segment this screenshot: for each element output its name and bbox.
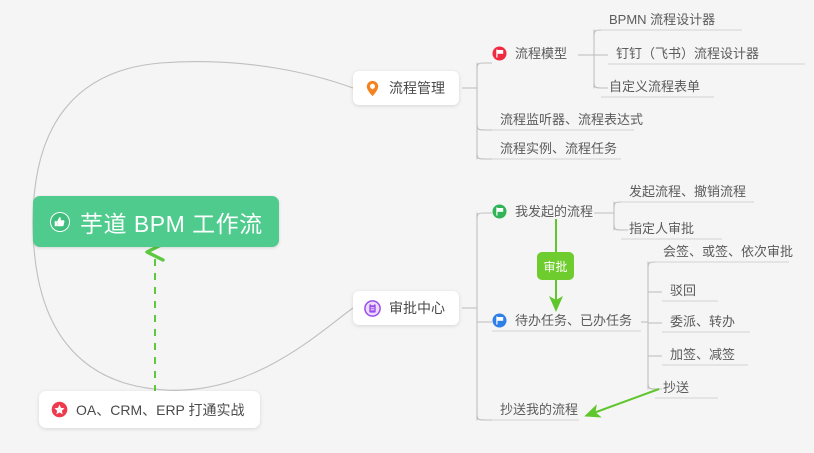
note-node-integration[interactable]: OA、CRM、ERP 打通实战 xyxy=(39,391,260,428)
topic-label-start-cancel-process: 发起流程、撤销流程 xyxy=(629,184,746,199)
thumbs-up-icon xyxy=(49,211,71,233)
topic-label-todo-done-tasks: 待办任务、已办任务 xyxy=(515,312,632,329)
star-icon xyxy=(51,401,68,418)
topic-label-designated-approver: 指定人审批 xyxy=(629,221,694,236)
topic-label-custom-process-form: 自定义流程表单 xyxy=(609,79,700,94)
topic-label-countersign-orsign-sequential: 会签、或签、依次审批 xyxy=(663,244,793,259)
note-label: OA、CRM、ERP 打通实战 xyxy=(76,400,245,420)
root-node[interactable]: 芋道 BPM 工作流 xyxy=(33,196,279,247)
branch-node-approval-center[interactable]: 审批中心 xyxy=(353,291,459,325)
edge-root-to-approval-center xyxy=(33,222,353,390)
arrow-cc-to-cc-to-me xyxy=(588,389,659,415)
topic-label-bpmn-designer: BPMN 流程设计器 xyxy=(609,12,715,27)
branch-label-process-management: 流程管理 xyxy=(389,78,445,98)
topic-dingtalk-feishu-designer[interactable]: 钉钉（飞书）流程设计器 xyxy=(608,45,767,66)
branch-label-approval-center: 审批中心 xyxy=(389,298,445,318)
topic-label-process-model: 流程模型 xyxy=(515,45,567,62)
topic-cc[interactable]: 抄送 xyxy=(655,379,697,400)
topic-custom-process-form[interactable]: 自定义流程表单 xyxy=(601,78,708,99)
edge-to-process-model xyxy=(477,63,492,69)
flag-blue-icon xyxy=(492,313,507,328)
clipboard-purple-icon xyxy=(364,300,381,317)
edge-to-my-initiated-process xyxy=(477,213,492,219)
topic-label-reject: 驳回 xyxy=(670,283,696,298)
flag-red-icon xyxy=(492,46,507,61)
topic-label-my-initiated-process: 我发起的流程 xyxy=(515,203,593,220)
approval-badge: 审批 xyxy=(537,252,574,280)
topic-label-process-instance-task: 流程实例、流程任务 xyxy=(500,141,617,156)
location-pin-icon xyxy=(364,80,381,97)
mindmap-canvas: 芋道 BPM 工作流 流程管理 审批中心 xyxy=(0,0,814,453)
topic-label-cc: 抄送 xyxy=(663,380,689,395)
edge-to-process-instance xyxy=(477,153,492,159)
topic-process-instance-task[interactable]: 流程实例、流程任务 xyxy=(492,140,625,161)
branch-node-process-management[interactable]: 流程管理 xyxy=(353,71,459,105)
topic-bpmn-designer[interactable]: BPMN 流程设计器 xyxy=(601,11,723,32)
topic-label-delegate-transfer: 委派、转办 xyxy=(670,314,735,329)
topic-process-listener-expression[interactable]: 流程监听器、流程表达式 xyxy=(492,111,651,132)
topic-label-process-listener-expression: 流程监听器、流程表达式 xyxy=(500,112,643,127)
topic-cc-to-me-process[interactable]: 抄送我的流程 xyxy=(492,401,586,422)
topic-label-dingtalk-feishu-designer: 钉钉（飞书）流程设计器 xyxy=(616,46,759,61)
topic-countersign-orsign-sequential[interactable]: 会签、或签、依次审批 xyxy=(655,243,801,264)
topic-reject[interactable]: 驳回 xyxy=(662,282,704,303)
approval-badge-label: 审批 xyxy=(543,258,567,275)
topic-process-model[interactable]: 流程模型 xyxy=(492,45,575,66)
edge-to-process-listener xyxy=(477,124,492,130)
topic-add-remove-sign[interactable]: 加签、减签 xyxy=(662,346,743,367)
topic-start-cancel-process[interactable]: 发起流程、撤销流程 xyxy=(621,183,754,204)
topic-my-initiated-process[interactable]: 我发起的流程 xyxy=(492,203,601,224)
topic-designated-approver[interactable]: 指定人审批 xyxy=(621,220,702,241)
flag-green-icon xyxy=(492,204,507,219)
topic-todo-done-tasks[interactable]: 待办任务、已办任务 xyxy=(492,312,640,333)
topic-label-cc-to-me-process: 抄送我的流程 xyxy=(500,402,578,417)
topic-label-add-remove-sign: 加签、减签 xyxy=(670,347,735,362)
root-label: 芋道 BPM 工作流 xyxy=(80,205,263,239)
topic-delegate-transfer[interactable]: 委派、转办 xyxy=(662,313,743,334)
edge-to-cc-to-me-process xyxy=(477,414,492,420)
